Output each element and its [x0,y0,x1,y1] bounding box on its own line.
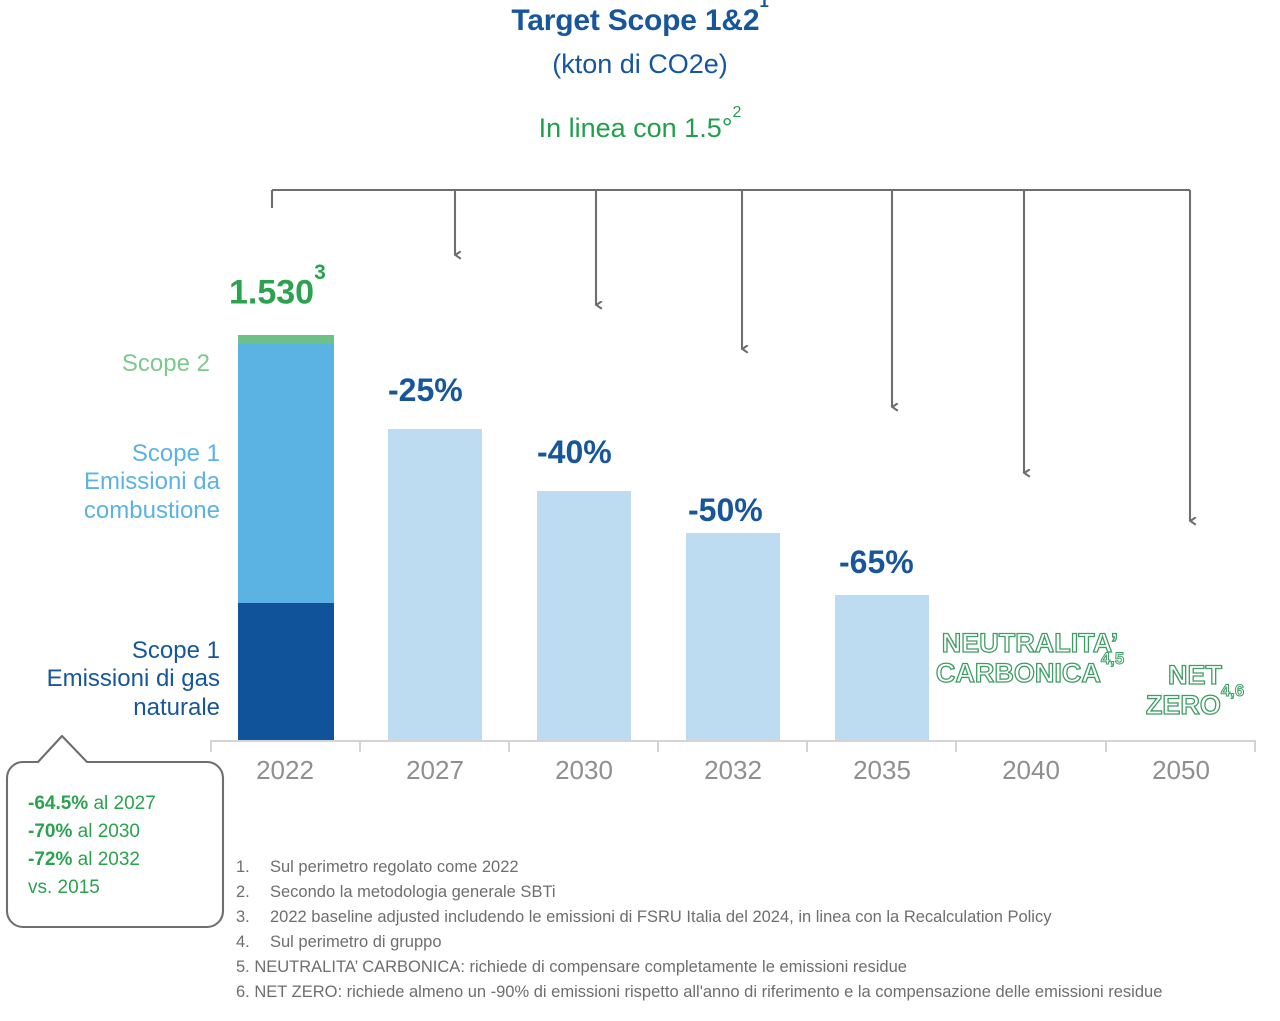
x-axis-tick [657,740,659,752]
footnote-number: 2. [236,880,270,905]
footnote-number: 4. [236,930,270,955]
bar-2022-segment-scope2 [238,335,334,344]
x-axis-tick [955,740,957,752]
callout-row: -70% al 2030 [28,818,218,846]
footnote-item: 5. NEUTRALITA’ CARBONICA: richiede di co… [236,955,1236,980]
callout-row-rest: al 2032 [72,849,140,870]
x-axis-label-2035: 2035 [812,755,952,786]
baseline-value-label: 1.5303 [229,273,326,312]
goal-net-zero-superscript: 4,6 [1221,681,1244,700]
legend-label-scope1-combustion-line2: Emissioni da [10,468,220,496]
x-axis-tick [1254,740,1256,752]
x-axis-tick [1105,740,1107,752]
legend-label-scope1-combustion: Scope 1 Emissioni da combustione [10,440,220,525]
x-axis-line [210,740,1256,742]
goal-carbon-neutrality-line1: NEUTRALITA’ [942,628,1119,658]
x-axis-label-2027: 2027 [365,755,505,786]
callout-row-bold: -72% [28,849,72,870]
baseline-value-superscript: 3 [314,261,326,284]
footnote-text: Sul perimetro di gruppo [270,930,1236,955]
x-axis-label-2030: 2030 [514,755,654,786]
x-axis-label-2022: 2022 [215,755,355,786]
x-axis-label-2050: 2050 [1111,755,1251,786]
footnote-item: 4. Sul perimetro di gruppo [236,930,1236,955]
reduction-label-2027: -25% [388,372,463,409]
x-axis-label-2032: 2032 [663,755,803,786]
goal-net-zero: NET ZERO4,6 [1120,660,1270,720]
slide-root: Target Scope 1&21 (kton di CO2e) In line… [0,0,1280,1021]
goal-net-zero-line1: NET [1168,660,1222,690]
callout-row: vs. 2015 [28,874,218,902]
footnote-text: Sul perimetro regolato come 2022 [270,855,1236,880]
x-axis-tick [359,740,361,752]
legend-label-scope1-combustion-line3: combustione [10,497,220,525]
reduction-label-2030: -40% [537,434,612,471]
footnote-number: 1. [236,855,270,880]
goal-net-zero-line2: ZERO [1146,690,1221,720]
x-axis-label-2040: 2040 [961,755,1101,786]
callout-row: -72% al 2032 [28,846,218,874]
callout-row-rest: al 2027 [88,793,156,814]
reduction-label-2035: -65% [839,544,914,581]
footnote-number: 3. [236,905,270,930]
callout-text: -64.5% al 2027 -70% al 2030 -72% al 2032… [28,790,218,902]
legend-label-scope1-combustion-line1: Scope 1 [10,440,220,468]
baseline-value-text: 1.530 [229,273,314,311]
footnote-text: Secondo la metodologia generale SBTi [270,880,1236,905]
bar-2032[interactable] [686,533,780,740]
footnote-item: 1. Sul perimetro regolato come 2022 [236,855,1236,880]
footnote-item: 2. Secondo la metodologia generale SBTi [236,880,1236,905]
callout-row-rest: vs. 2015 [28,877,100,898]
bar-2030[interactable] [537,491,631,740]
callout-row: -64.5% al 2027 [28,790,218,818]
callout-row-rest: al 2030 [72,821,140,842]
callout-row-bold: -70% [28,821,72,842]
goal-carbon-neutrality-line2: CARBONICA [936,658,1101,688]
legend-label-scope2: Scope 2 [20,350,210,378]
x-axis-tick [508,740,510,752]
callout-row-bold: -64.5% [28,793,88,814]
footnote-item: 3. 2022 baseline adjusted includendo le … [236,905,1236,930]
legend-label-scope1-gas-line1: Scope 1 [0,637,220,665]
legend-label-scope1-gas-line2: Emissioni di gas [0,665,220,693]
bar-2022-segment-gas-naturale [238,603,334,740]
footnote-item: 6. NET ZERO: richiede almeno un -90% di … [236,980,1236,1005]
reduction-label-2032: -50% [688,492,763,529]
bar-2027[interactable] [388,429,482,740]
footnotes: 1. Sul perimetro regolato come 2022 2. S… [236,855,1236,1005]
footnote-text: 2022 baseline adjusted includendo le emi… [270,905,1236,930]
x-axis-tick [806,740,808,752]
